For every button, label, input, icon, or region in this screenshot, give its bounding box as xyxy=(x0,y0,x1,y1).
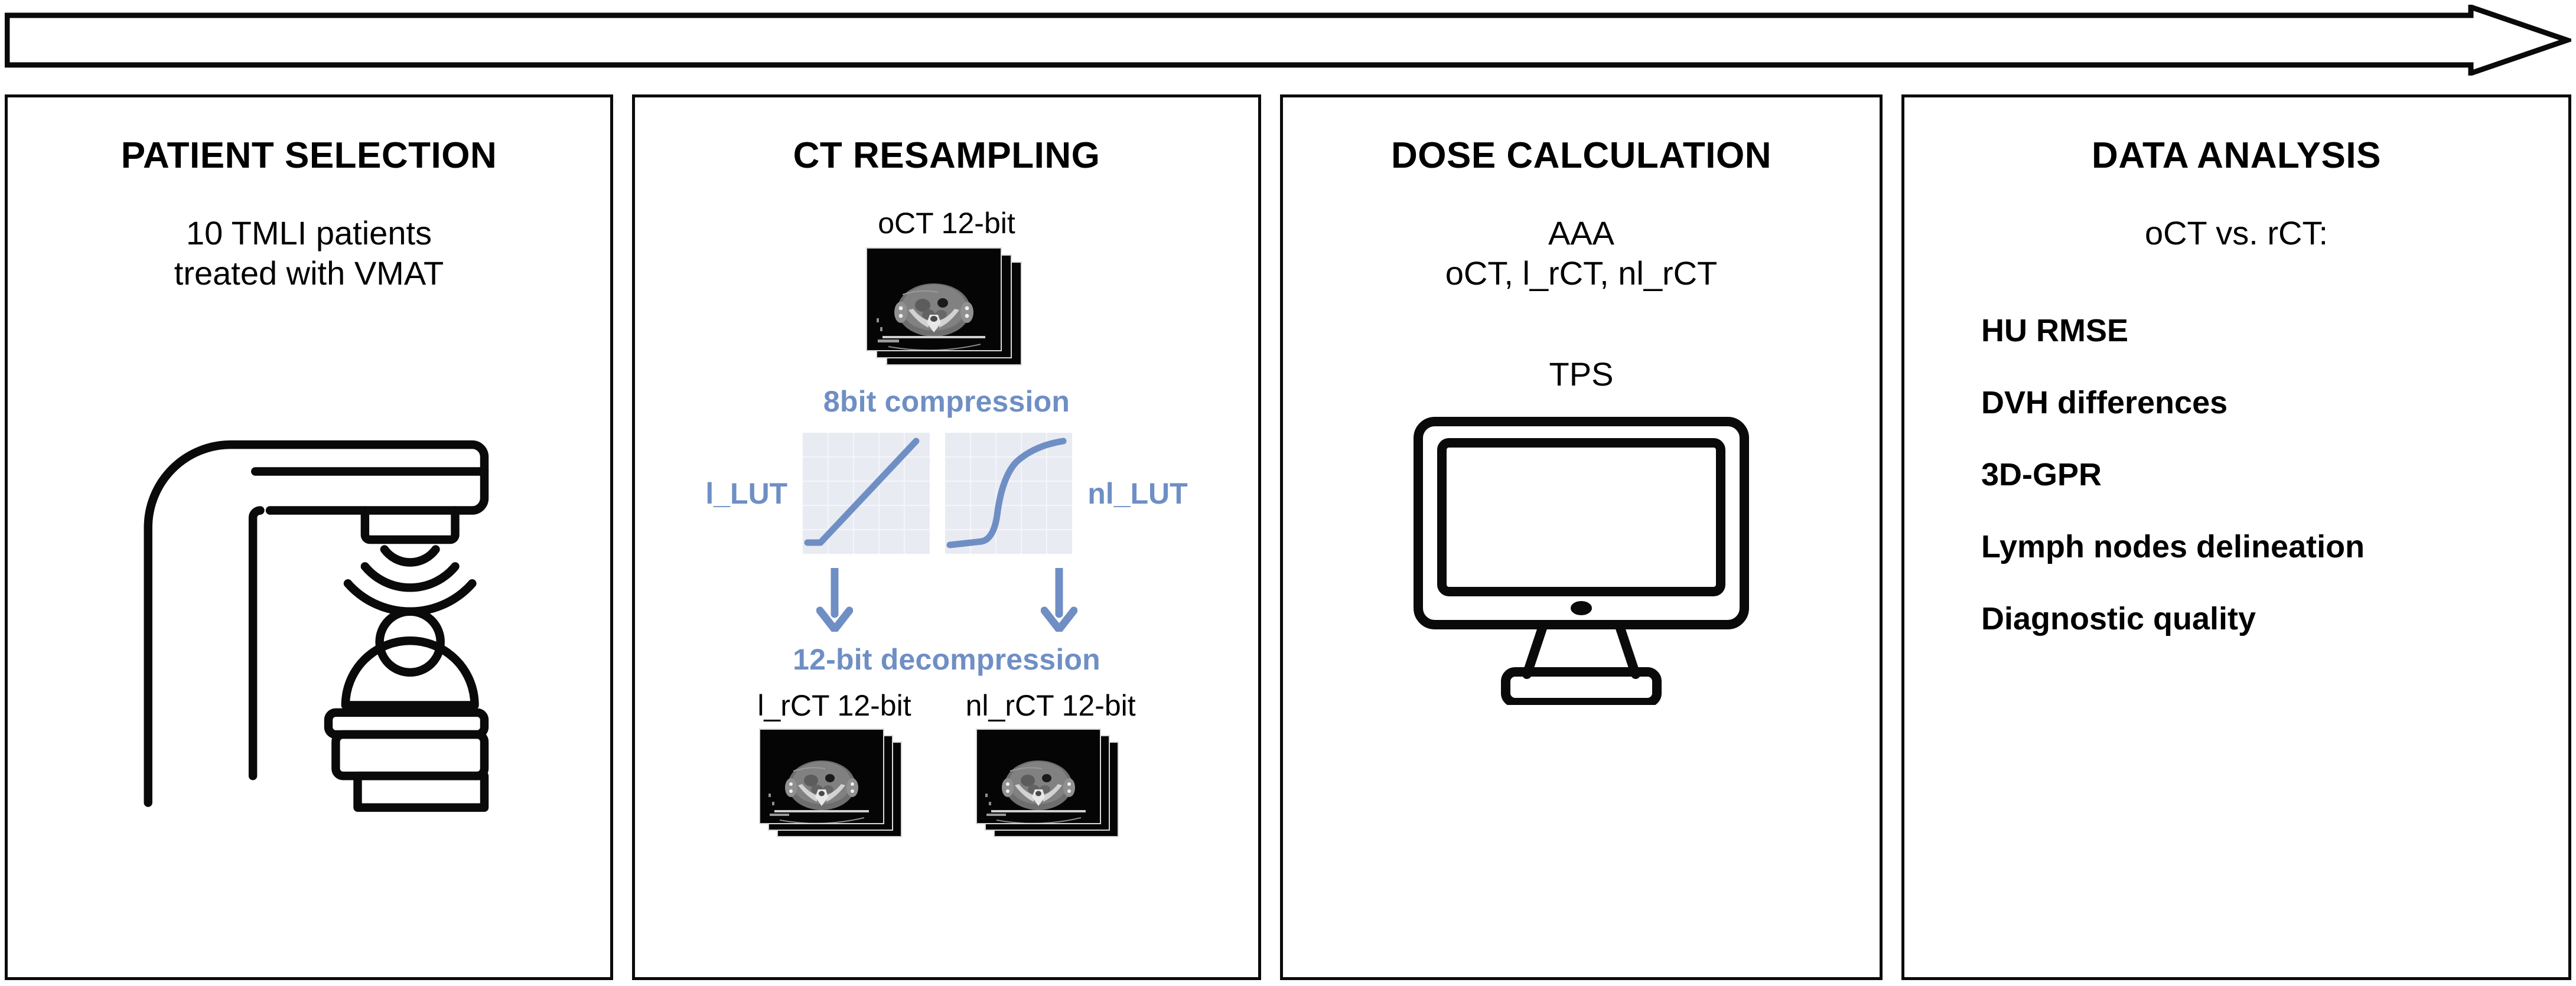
linear-lut-label: l_LUT xyxy=(705,479,787,508)
list-item: Lymph nodes delineation xyxy=(1981,531,2568,563)
stage-data-analysis: DATA ANALYSIS oCT vs. rCT: HU RMSE DVH d… xyxy=(1901,94,2571,980)
tps-label: TPS xyxy=(1549,354,1614,394)
stage-dose-calculation: DOSE CALCULATION AAA oCT, l_rCT, nl_rCT … xyxy=(1280,94,1883,980)
decompression-label: 12-bit decompression xyxy=(793,645,1100,674)
stage-title: DATA ANALYSIS xyxy=(2092,138,2381,174)
ct-slice-image xyxy=(760,730,883,823)
nonlinear-rct-output: nl_rCT 12-bit xyxy=(966,691,1136,839)
compression-label: 8bit compression xyxy=(823,387,1070,416)
linear-rct-output: l_rCT 12-bit xyxy=(757,691,911,839)
stage-ct-resampling: CT RESAMPLING oCT 12-bit xyxy=(632,94,1261,980)
dose-calculation-description: AAA oCT, l_rCT, nl_rCT xyxy=(1445,213,1718,294)
list-item: Diagnostic quality xyxy=(1981,603,2568,635)
arrow-down-icon xyxy=(1041,568,1077,632)
list-item: DVH differences xyxy=(1981,387,2568,419)
lut-row: l_LUT xyxy=(635,433,1258,554)
stage-patient-selection: PATIENT SELECTION 10 TMLI patients treat… xyxy=(5,94,613,980)
nonlinear-lut-label: nl_LUT xyxy=(1087,479,1187,508)
dose-datasets: oCT, l_rCT, nl_rCT xyxy=(1445,253,1718,293)
patient-selection-description: 10 TMLI patients treated with VMAT xyxy=(174,213,444,294)
nonlinear-rct-label: nl_rCT 12-bit xyxy=(966,691,1136,720)
nonlinear-rct-image-stack xyxy=(977,730,1125,839)
dose-algorithm: AAA xyxy=(1445,213,1718,253)
nonlinear-lut-plot xyxy=(945,433,1072,554)
list-item: HU RMSE xyxy=(1981,315,2568,347)
oct-source-label: oCT 12-bit xyxy=(878,208,1015,238)
ct-slice-image xyxy=(977,730,1100,823)
ct-scanner-patient-icon xyxy=(8,294,610,977)
resampled-outputs-row: l_rCT 12-bit xyxy=(635,691,1258,839)
treatment-line: treated with VMAT xyxy=(174,253,444,293)
linear-rct-label: l_rCT 12-bit xyxy=(757,691,911,720)
patient-count-line: 10 TMLI patients xyxy=(174,213,444,253)
stage-title: DOSE CALCULATION xyxy=(1391,138,1771,174)
workflow-diagram: PATIENT SELECTION 10 TMLI patients treat… xyxy=(0,0,2576,986)
analysis-metrics-list: HU RMSE DVH differences 3D-GPR Lymph nod… xyxy=(1904,315,2568,635)
stage-title: CT RESAMPLING xyxy=(793,138,1100,174)
list-item: 3D-GPR xyxy=(1981,459,2568,491)
ct-slice-image xyxy=(867,249,1001,350)
oct-image-stack xyxy=(867,249,1027,367)
flow-arrow xyxy=(5,5,2571,76)
comparison-label: oCT vs. rCT: xyxy=(2145,213,2328,253)
computer-monitor-icon xyxy=(1283,410,1880,977)
arrow-down-icon xyxy=(816,568,853,632)
stage-title: PATIENT SELECTION xyxy=(121,138,497,174)
decompression-arrows xyxy=(635,568,1258,632)
linear-lut-plot xyxy=(803,433,930,554)
linear-rct-image-stack xyxy=(760,730,908,839)
